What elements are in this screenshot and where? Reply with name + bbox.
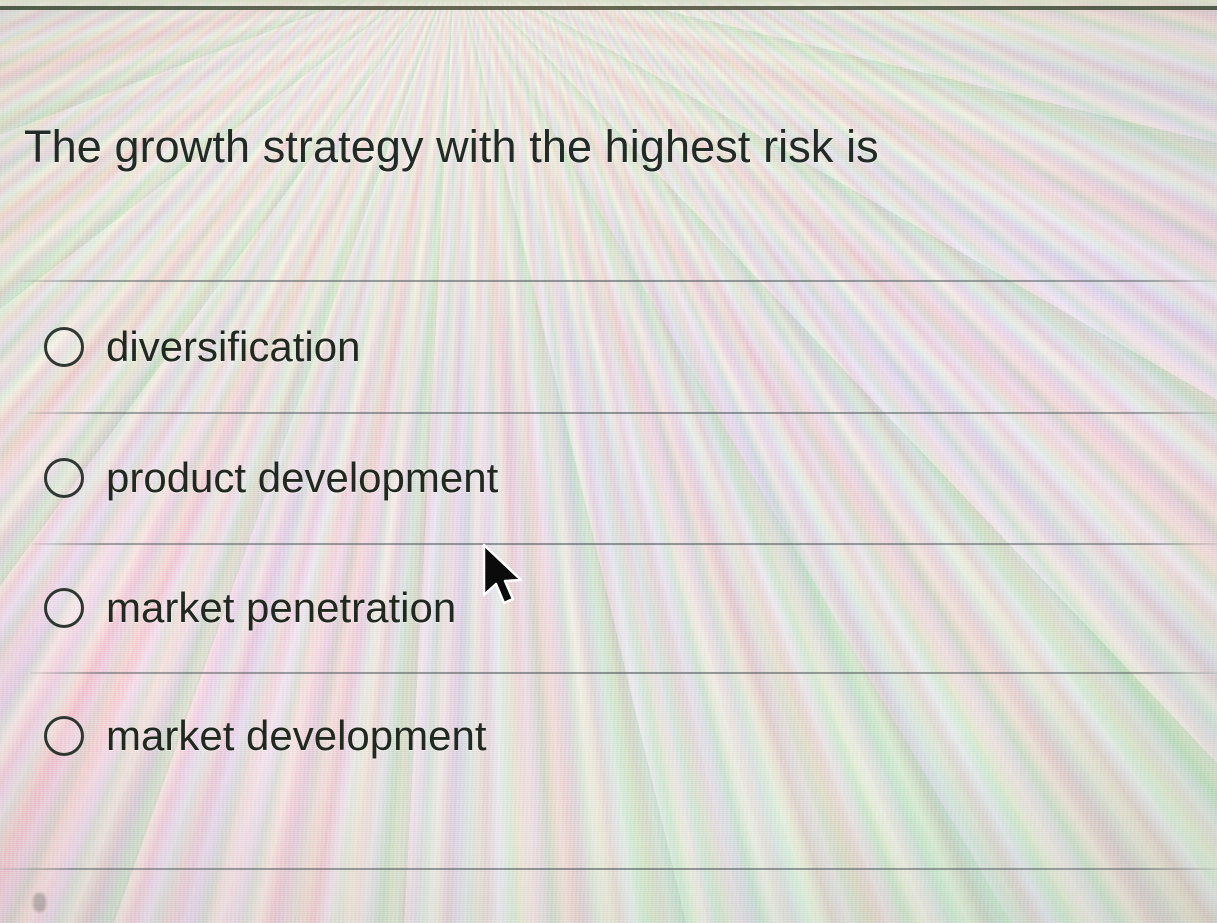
answer-option-label: market penetration bbox=[106, 587, 456, 629]
divider-3 bbox=[30, 672, 1217, 674]
answer-option-2[interactable]: product development bbox=[44, 457, 498, 499]
question-text: The growth strategy with the highest ris… bbox=[24, 122, 879, 172]
answer-option-label: market development bbox=[106, 715, 487, 757]
answer-option-3[interactable]: market penetration bbox=[44, 587, 456, 629]
divider-2 bbox=[32, 543, 1217, 545]
answer-option-label: diversification bbox=[106, 326, 360, 368]
answer-option-label: product development bbox=[106, 457, 498, 499]
answer-option-4[interactable]: market development bbox=[44, 715, 487, 757]
arrow-pointer-icon bbox=[481, 543, 527, 613]
screen-photo: The growth strategy with the highest ris… bbox=[0, 0, 1217, 923]
divider-4 bbox=[0, 868, 1217, 870]
radio-button-icon[interactable] bbox=[44, 458, 84, 498]
photo-smudge-artifact bbox=[33, 893, 46, 912]
question-panel: The growth strategy with the highest ris… bbox=[0, 0, 1217, 923]
divider-0 bbox=[20, 280, 1217, 282]
answer-option-1[interactable]: diversification bbox=[44, 326, 360, 368]
radio-button-icon[interactable] bbox=[44, 588, 84, 628]
radio-button-icon[interactable] bbox=[44, 327, 84, 367]
divider-1 bbox=[28, 412, 1217, 414]
radio-button-icon[interactable] bbox=[44, 716, 84, 756]
